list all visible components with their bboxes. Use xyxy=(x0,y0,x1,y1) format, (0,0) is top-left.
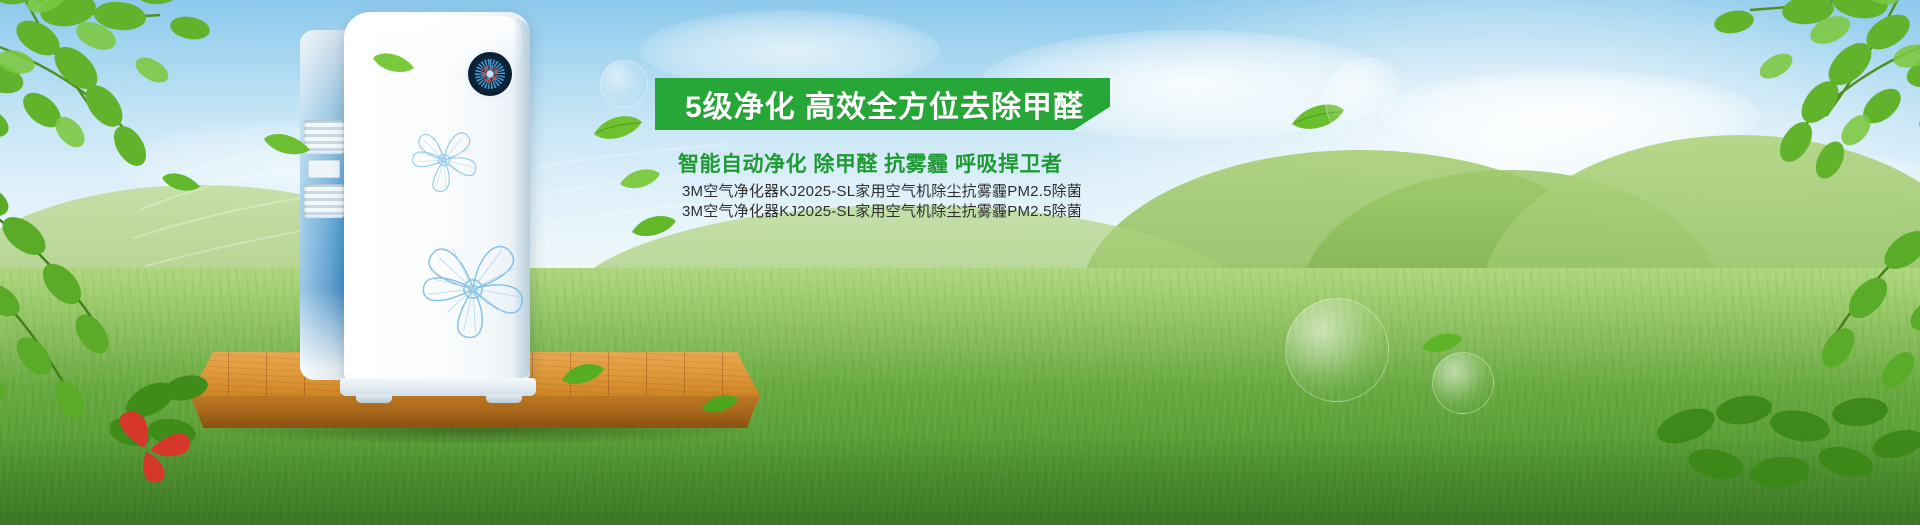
air-purifier-product xyxy=(300,8,560,398)
headline-banner: 5级净化 高效全方位去除甲醛 xyxy=(655,78,1110,130)
product-description-line-2: 3M空气净化器KJ2025-SL家用空气机除尘抗雾霾PM2.5除菌 xyxy=(682,200,1082,221)
light-bubble xyxy=(1432,352,1494,414)
product-description-line-1: 3M空气净化器KJ2025-SL家用空气机除尘抗雾霾PM2.5除菌 xyxy=(682,180,1082,201)
purifier-foot xyxy=(486,394,522,403)
purifier-vent xyxy=(304,184,344,218)
purifier-foot xyxy=(356,394,392,403)
light-bubble xyxy=(1325,58,1411,144)
light-bubble xyxy=(1285,298,1389,402)
display-core-icon xyxy=(487,71,494,78)
subtitle-text: 智能自动净化 除甲醛 抗雾霾 呼吸捍卫者 xyxy=(678,148,1063,178)
promo-banner: 5级净化 高效全方位去除甲醛 智能自动净化 除甲醛 抗雾霾 呼吸捍卫者 3M空气… xyxy=(0,0,1920,525)
deck-front-face xyxy=(186,394,764,428)
headline-text: 5级净化 高效全方位去除甲醛 xyxy=(655,82,1084,126)
purifier-right-edge xyxy=(514,18,530,378)
purifier-warning-label xyxy=(308,160,340,178)
light-bubble xyxy=(600,60,648,108)
grass-shadow xyxy=(0,435,1920,525)
purifier-vent xyxy=(304,120,344,154)
purifier-display-panel[interactable] xyxy=(468,52,512,96)
